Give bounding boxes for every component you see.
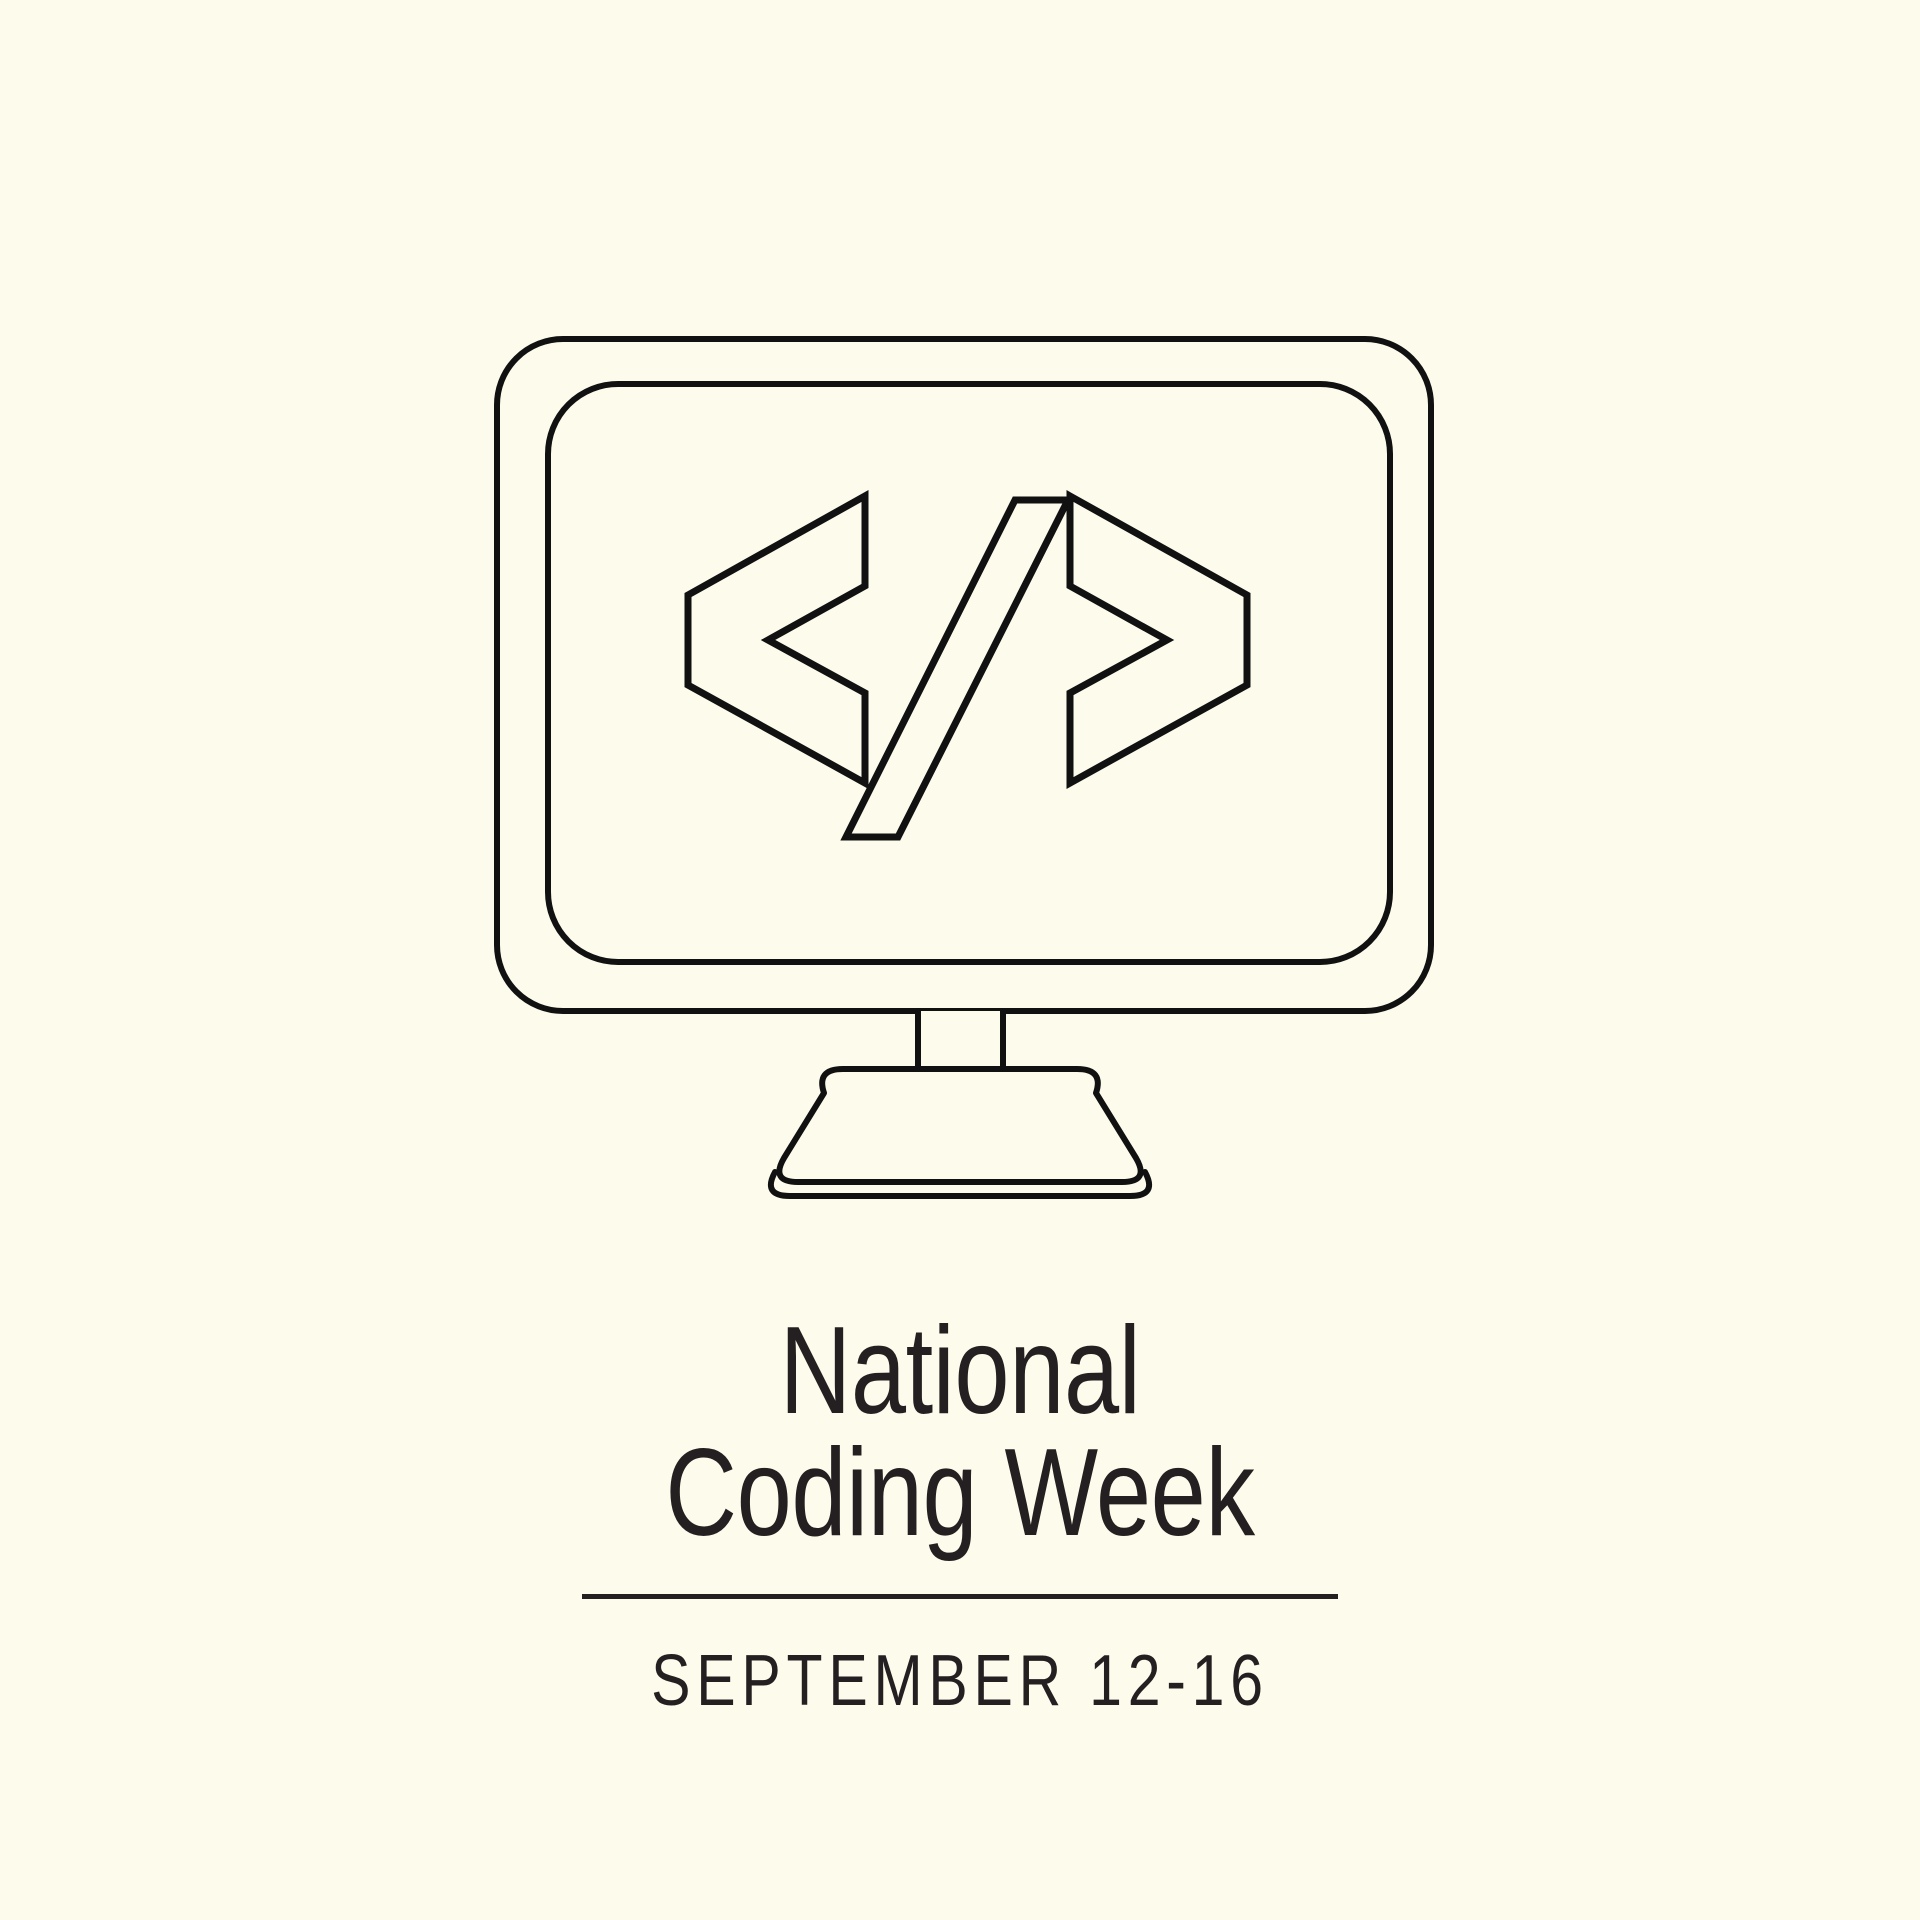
divider-rule	[582, 1594, 1338, 1599]
line-art-layer	[497, 339, 1431, 1196]
poster-canvas: National Coding Week SEPTEMBER 12-16	[0, 0, 1920, 1920]
page-title-line-1: National	[192, 1310, 1728, 1432]
stand-base-outline	[779, 1069, 1140, 1182]
event-dates: SEPTEMBER 12-16	[173, 1643, 1747, 1719]
text-block: National Coding Week SEPTEMBER 12-16	[0, 1310, 1920, 1719]
monitor-bezel-outline	[497, 339, 1431, 1011]
divider-wrapper	[0, 1594, 1920, 1599]
page-title-line-2: Coding Week	[192, 1432, 1728, 1554]
